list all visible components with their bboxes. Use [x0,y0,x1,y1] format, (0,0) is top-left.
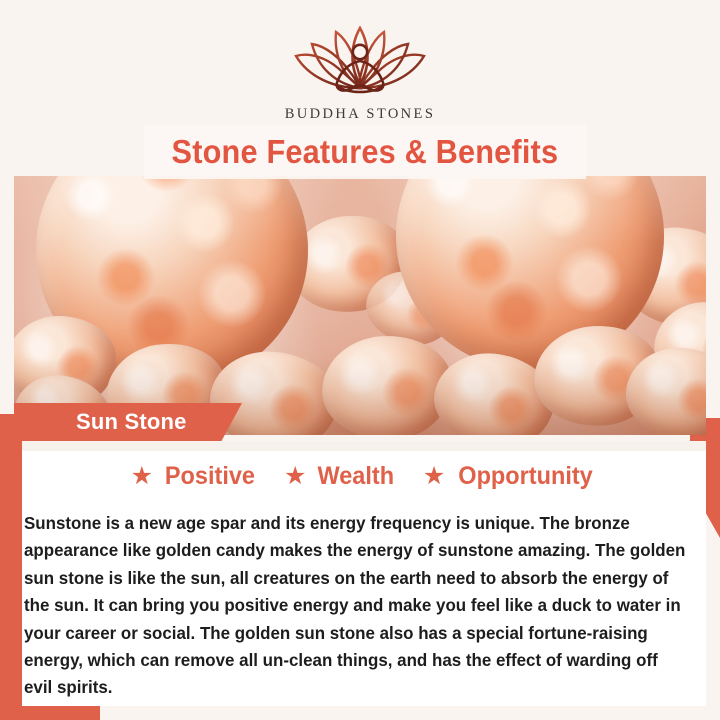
benefit-item-wealth: ★ Wealth [284,462,397,491]
lotus-meditation-icon [280,18,440,104]
brand-name: BUDDHA STONES [0,106,720,123]
content-card: ★ Positive ★ Wealth ★ Opportunity Sunsto… [22,441,706,706]
card-top-strip [22,441,706,451]
star-icon: ★ [284,464,306,489]
stone-name-label: Sun Stone [14,409,187,435]
corner-frame-bottom-left-horizontal [0,706,100,720]
brand-logo: BUDDHA STONES [0,18,720,123]
benefit-label: Positive [165,462,255,491]
benefit-label: Wealth [318,462,395,491]
page-title: Stone Features & Benefits [172,133,559,171]
description-paragraph: Sunstone is a new age spar and its energ… [24,510,690,702]
star-icon: ★ [131,464,153,489]
benefit-item-opportunity: ★ Opportunity [423,462,597,491]
corner-frame-bottom-left-vertical [0,414,22,720]
tumbled-stone [319,332,456,435]
star-icon: ★ [423,464,445,489]
poster-root: BUDDHA STONES Stone Features & Ben [0,0,720,720]
benefit-item-positive: ★ Positive [131,462,258,491]
stone-name-ribbon: Sun Stone [14,403,242,441]
benefit-label: Opportunity [459,462,593,491]
title-plaque: Stone Features & Benefits [144,125,586,179]
hero-photo [14,176,706,435]
photo-canvas [14,176,706,435]
benefits-row: ★ Positive ★ Wealth ★ Opportunity [22,462,706,491]
